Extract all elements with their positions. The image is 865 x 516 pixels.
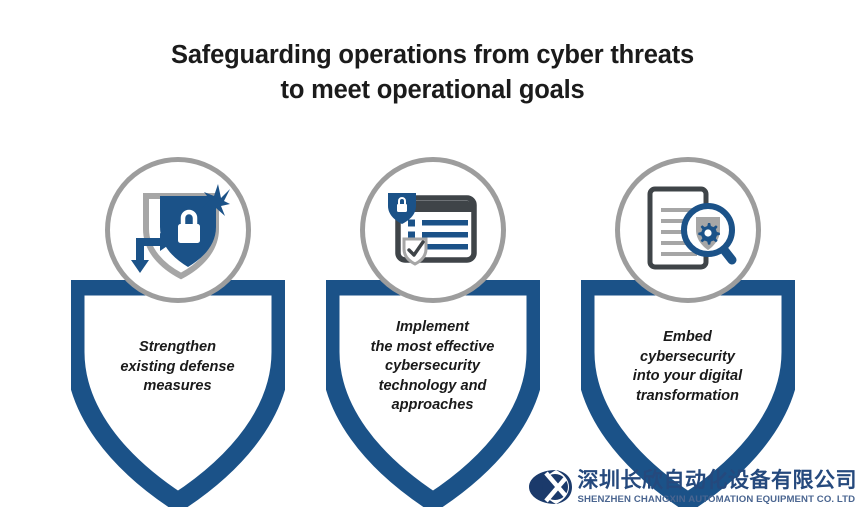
page-title: Safeguarding operations from cyber threa…	[0, 38, 865, 108]
company-name-cn: 深圳长欣自动化设备有限公司	[578, 469, 858, 493]
page-title-line-2: to meet operational goals	[0, 73, 865, 108]
page-title-line-1: Safeguarding operations from cyber threa…	[0, 38, 865, 73]
card-text-1-line-3: measures	[88, 377, 268, 397]
icon-circle-3	[615, 157, 761, 303]
company-logo: 深圳长欣自动化设备有限公司 SHENZHEN CHANGXIN AUTOMATI…	[526, 462, 858, 512]
changxin-logo-mark-icon	[526, 466, 572, 508]
card-text-3-line-2: cybersecurity	[598, 348, 778, 368]
shield-card-embed: Embed cybersecurity into your digital tr…	[560, 157, 815, 507]
card-text-3-line-4: transformation	[598, 387, 778, 407]
card-text-1: Strengthen existing defense measures	[88, 338, 268, 397]
shield-card-strengthen: Strengthen existing defense measures	[50, 157, 305, 507]
logo-text-block: 深圳长欣自动化设备有限公司 SHENZHEN CHANGXIN AUTOMATI…	[578, 469, 858, 506]
card-text-2: Implement the most effective cybersecuri…	[343, 318, 523, 416]
icon-circle-1	[105, 157, 251, 303]
document-magnifier-shield-gear-icon	[638, 184, 738, 276]
shield-lock-deflect-icon	[126, 180, 230, 280]
card-text-3-line-3: into your digital	[598, 367, 778, 387]
icon-circle-2	[360, 157, 506, 303]
secure-checklist-icon	[384, 187, 482, 273]
card-text-2-line-2: the most effective	[343, 338, 523, 358]
card-text-1-line-1: Strengthen	[88, 338, 268, 358]
card-text-1-line-2: existing defense	[88, 358, 268, 378]
company-name-en: SHENZHEN CHANGXIN AUTOMATION EQUIPMENT C…	[578, 494, 858, 506]
shield-cards-row: Strengthen existing defense measures	[0, 157, 865, 507]
card-text-2-line-1: Implement	[343, 318, 523, 338]
card-text-2-line-5: approaches	[343, 396, 523, 416]
shield-card-implement: Implement the most effective cybersecuri…	[305, 157, 560, 507]
card-text-3-line-1: Embed	[598, 328, 778, 348]
card-text-2-line-3: cybersecurity	[343, 357, 523, 377]
card-text-3: Embed cybersecurity into your digital tr…	[598, 328, 778, 406]
card-text-2-line-4: technology and	[343, 377, 523, 397]
